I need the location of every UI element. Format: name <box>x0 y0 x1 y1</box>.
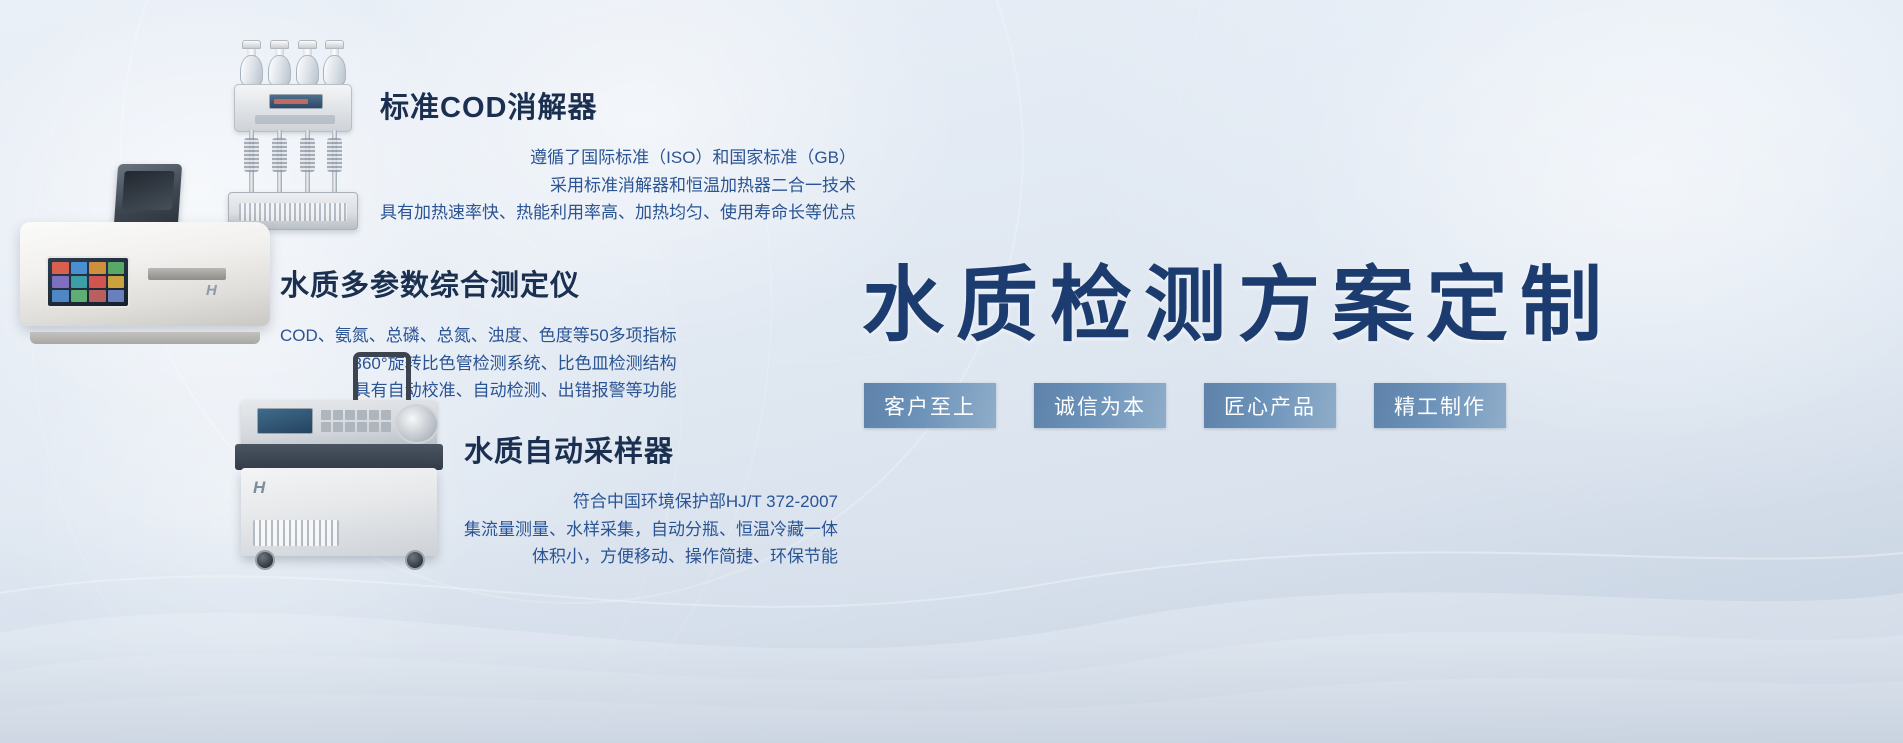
heating-rod <box>268 130 291 198</box>
slogan-tag-fine-manufacturing[interactable]: 精工制作 <box>1374 383 1506 428</box>
product-description: 符合中国环境保护部HJ/T 372-2007 集流量测量、水样采集，自动分瓶、恒… <box>464 488 838 571</box>
analyzer-brand-logo: H <box>206 282 217 299</box>
digestion-tubes-group <box>240 40 346 86</box>
analyzer-body: H <box>20 222 270 326</box>
digestion-tube <box>323 40 346 86</box>
analyzer-touch-panel <box>46 256 130 308</box>
digester-control-strip <box>255 115 335 124</box>
product-text-cod-digester: 标准COD消解器 遵循了国际标准（ISO）和国家标准（GB） 采用标准消解器和恒… <box>380 40 856 227</box>
water-quality-banner: 标准COD消解器 遵循了国际标准（ISO）和国家标准（GB） 采用标准消解器和恒… <box>0 0 1903 743</box>
product-description-line: 360°旋转比色管检测系统、比色皿检测结构 <box>280 350 677 378</box>
auto-water-sampler-photo: H <box>235 400 450 575</box>
product-description-line: 体积小，方便移动、操作简捷、环保节能 <box>464 543 838 571</box>
sampler-display <box>257 408 313 434</box>
product-description: COD、氨氮、总磷、总氮、浊度、色度等50多项指标 360°旋转比色管检测系统、… <box>280 322 677 405</box>
sampler-dark-band <box>235 444 443 470</box>
slogan-tag-integrity[interactable]: 诚信为本 <box>1034 383 1166 428</box>
sampler-refrigerated-cabinet: H <box>241 468 437 556</box>
analyzer-base <box>30 332 260 344</box>
sampler-handle <box>353 352 411 404</box>
heating-rod <box>240 130 263 198</box>
product-text-multiparameter-analyzer: 水质多参数综合测定仪 COD、氨氮、总磷、总氮、浊度、色度等50多项指标 360… <box>280 212 677 405</box>
product-block-auto-sampler: H 水质自动采样器 符合中国环境保护部HJ/T 372-2007 集流量测量、水… <box>235 400 838 575</box>
slogan-tag-craftsmanship[interactable]: 匠心产品 <box>1204 383 1336 428</box>
sampler-caster-wheel <box>255 550 275 570</box>
multiparameter-analyzer-photo: H <box>20 212 270 352</box>
product-block-cod-digester: 标准COD消解器 遵循了国际标准（ISO）和国家标准（GB） 采用标准消解器和恒… <box>228 40 856 230</box>
sampler-brand-logo: H <box>253 478 265 498</box>
digestion-tube <box>240 40 263 86</box>
product-block-multiparameter-analyzer: H 水质多参数综合测定仪 COD、氨氮、总磷、总氮、浊度、色度等50多项指标 3… <box>20 212 677 405</box>
analyzer-sample-slot <box>148 268 226 280</box>
product-title: 标准COD消解器 <box>380 84 856 126</box>
digester-display <box>269 94 323 109</box>
sampler-control-top <box>241 400 437 446</box>
sampler-peristaltic-pump <box>395 404 439 444</box>
digester-control-head <box>234 84 352 132</box>
product-description-line: COD、氨氮、总磷、总氮、浊度、色度等50多项指标 <box>280 322 677 350</box>
digestion-tube <box>268 40 291 86</box>
product-title: 水质自动采样器 <box>464 428 838 470</box>
heating-rod <box>296 130 319 198</box>
product-description-line: 遵循了国际标准（ISO）和国家标准（GB） <box>380 144 856 172</box>
banner-headline: 水质检测方案定制 <box>862 238 1862 357</box>
sampler-vent-grille <box>253 520 339 546</box>
product-title: 水质多参数综合测定仪 <box>280 262 677 304</box>
product-description-line: 符合中国环境保护部HJ/T 372-2007 <box>464 488 838 516</box>
product-text-auto-sampler: 水质自动采样器 符合中国环境保护部HJ/T 372-2007 集流量测量、水样采… <box>464 400 838 571</box>
product-description-line: 采用标准消解器和恒温加热器二合一技术 <box>380 172 856 200</box>
digester-heating-rods <box>240 130 346 198</box>
product-description-line: 集流量测量、水样采集，自动分瓶、恒温冷藏一体 <box>464 516 838 544</box>
sampler-caster-wheel <box>405 550 425 570</box>
digestion-tube <box>296 40 319 86</box>
slogan-tag-list: 客户至上 诚信为本 匠心产品 精工制作 <box>864 383 1506 428</box>
sampler-keypad <box>321 410 391 432</box>
heating-rod <box>323 130 346 198</box>
analyzer-lid <box>114 164 182 226</box>
slogan-tag-customer-first[interactable]: 客户至上 <box>864 383 996 428</box>
cod-digester-photo <box>228 40 358 230</box>
